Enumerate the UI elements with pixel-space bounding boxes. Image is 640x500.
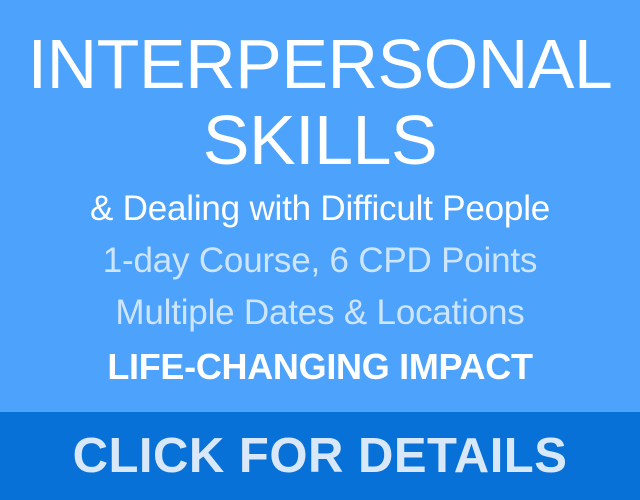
headline-line-2: SKILLS xyxy=(8,102,632,178)
banner-content: INTERPERSONAL SKILLS & Dealing with Diff… xyxy=(0,0,640,412)
cta-button-label: CLICK FOR DETAILS xyxy=(73,431,568,481)
detail-availability: Multiple Dates & Locations xyxy=(8,292,632,334)
headline-line-1: INTERPERSONAL xyxy=(8,26,632,102)
advertisement-banner[interactable]: INTERPERSONAL SKILLS & Dealing with Diff… xyxy=(0,0,640,500)
subheadline: & Dealing with Difficult People xyxy=(8,188,632,230)
cta-button[interactable]: CLICK FOR DETAILS xyxy=(0,412,640,500)
impact-statement: LIFE-CHANGING IMPACT xyxy=(8,346,632,388)
detail-course-format: 1-day Course, 6 CPD Points xyxy=(8,240,632,282)
